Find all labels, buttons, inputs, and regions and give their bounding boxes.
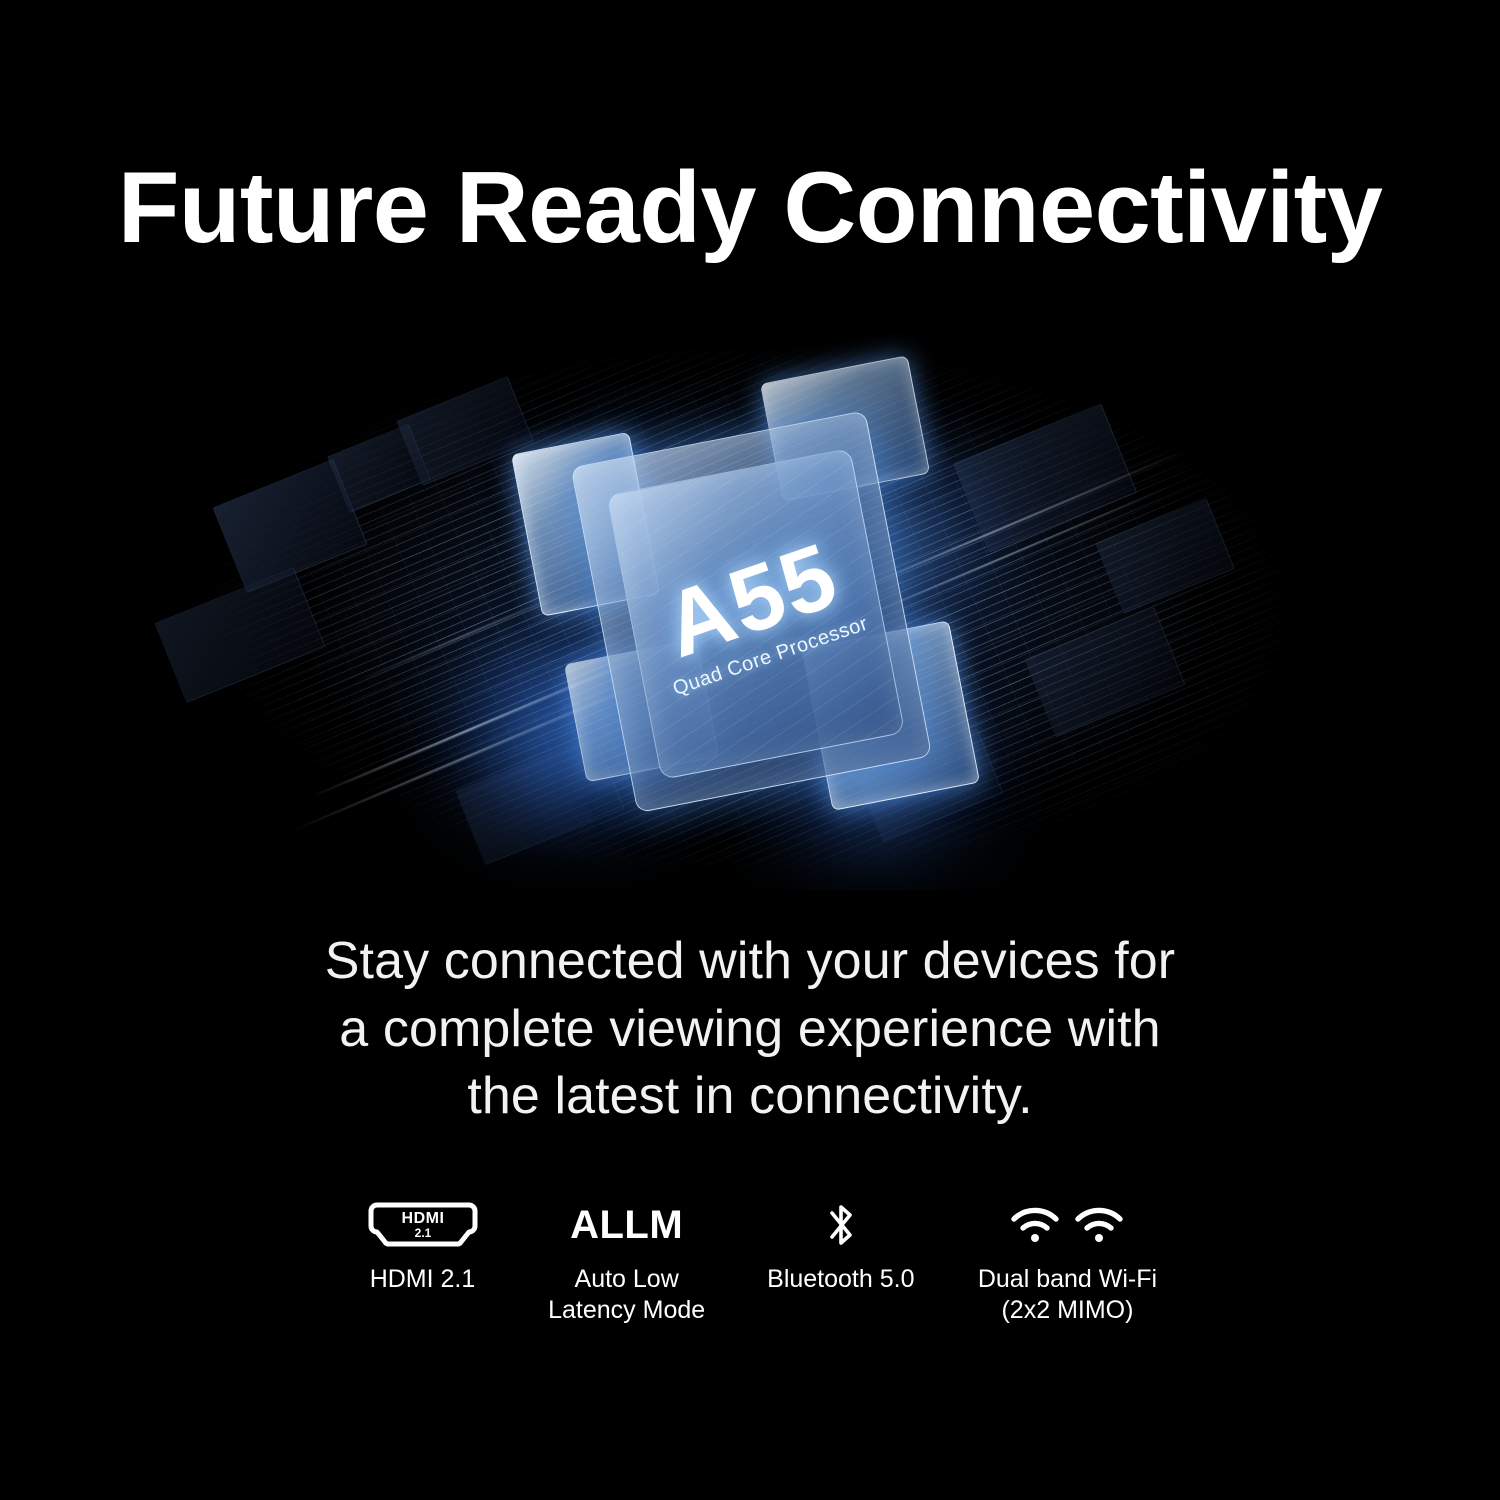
feature-bluetooth: Bluetooth 5.0 xyxy=(738,1196,943,1295)
description-line-2: a complete viewing experience with xyxy=(0,996,1500,1064)
feature-caption-line-1: Bluetooth 5.0 xyxy=(767,1264,914,1295)
allm-wordmark-icon: ALLM xyxy=(570,1205,683,1245)
page-title: Future Ready Connectivity xyxy=(0,158,1500,259)
wifi-icon xyxy=(1074,1206,1124,1244)
feature-caption-line-1: HDMI 2.1 xyxy=(370,1264,476,1295)
description-line-3: the latest in connectivity. xyxy=(0,1063,1500,1131)
product-feature-banner: Future Ready Connectivity xyxy=(0,0,1500,1500)
wifi-icon-pair xyxy=(1010,1206,1124,1244)
feature-caption-line-2: (2x2 MIMO) xyxy=(978,1295,1157,1326)
wifi-icon xyxy=(1010,1206,1060,1244)
feature-wifi: Dual band Wi-Fi (2x2 MIMO) xyxy=(955,1196,1180,1325)
hdmi-wordmark: HDMI xyxy=(401,1210,444,1227)
feature-caption-line-1: Auto Low xyxy=(548,1264,705,1295)
feature-hdmi: HDMI 2.1 HDMI 2.1 xyxy=(330,1196,515,1295)
processor-hero-image: A55 Quad Core Processor xyxy=(105,330,1395,890)
description-line-1: Stay connected with your devices for xyxy=(0,928,1500,996)
bluetooth-icon xyxy=(822,1197,860,1253)
feature-caption-line-1: Dual band Wi-Fi xyxy=(978,1264,1157,1295)
feature-caption: Auto Low Latency Mode xyxy=(548,1264,705,1325)
icon-slot xyxy=(1010,1196,1124,1254)
feature-caption: HDMI 2.1 xyxy=(370,1264,476,1295)
feature-caption-line-2: Latency Mode xyxy=(548,1295,705,1326)
hdmi-version: 2.1 xyxy=(414,1226,431,1240)
feature-allm: ALLM Auto Low Latency Mode xyxy=(527,1196,727,1325)
hdmi-connector-icon: HDMI 2.1 xyxy=(368,1202,478,1248)
icon-slot: ALLM xyxy=(570,1196,683,1254)
processor-chip: A55 Quad Core Processor xyxy=(497,353,1003,867)
feature-caption: Bluetooth 5.0 xyxy=(767,1264,914,1295)
description-text: Stay connected with your devices for a c… xyxy=(0,928,1500,1131)
icon-slot: HDMI 2.1 xyxy=(368,1196,478,1254)
icon-slot xyxy=(822,1196,860,1254)
feature-caption: Dual band Wi-Fi (2x2 MIMO) xyxy=(978,1264,1157,1325)
feature-icon-row: HDMI 2.1 HDMI 2.1 ALLM Auto Low Latency … xyxy=(330,1196,1180,1346)
